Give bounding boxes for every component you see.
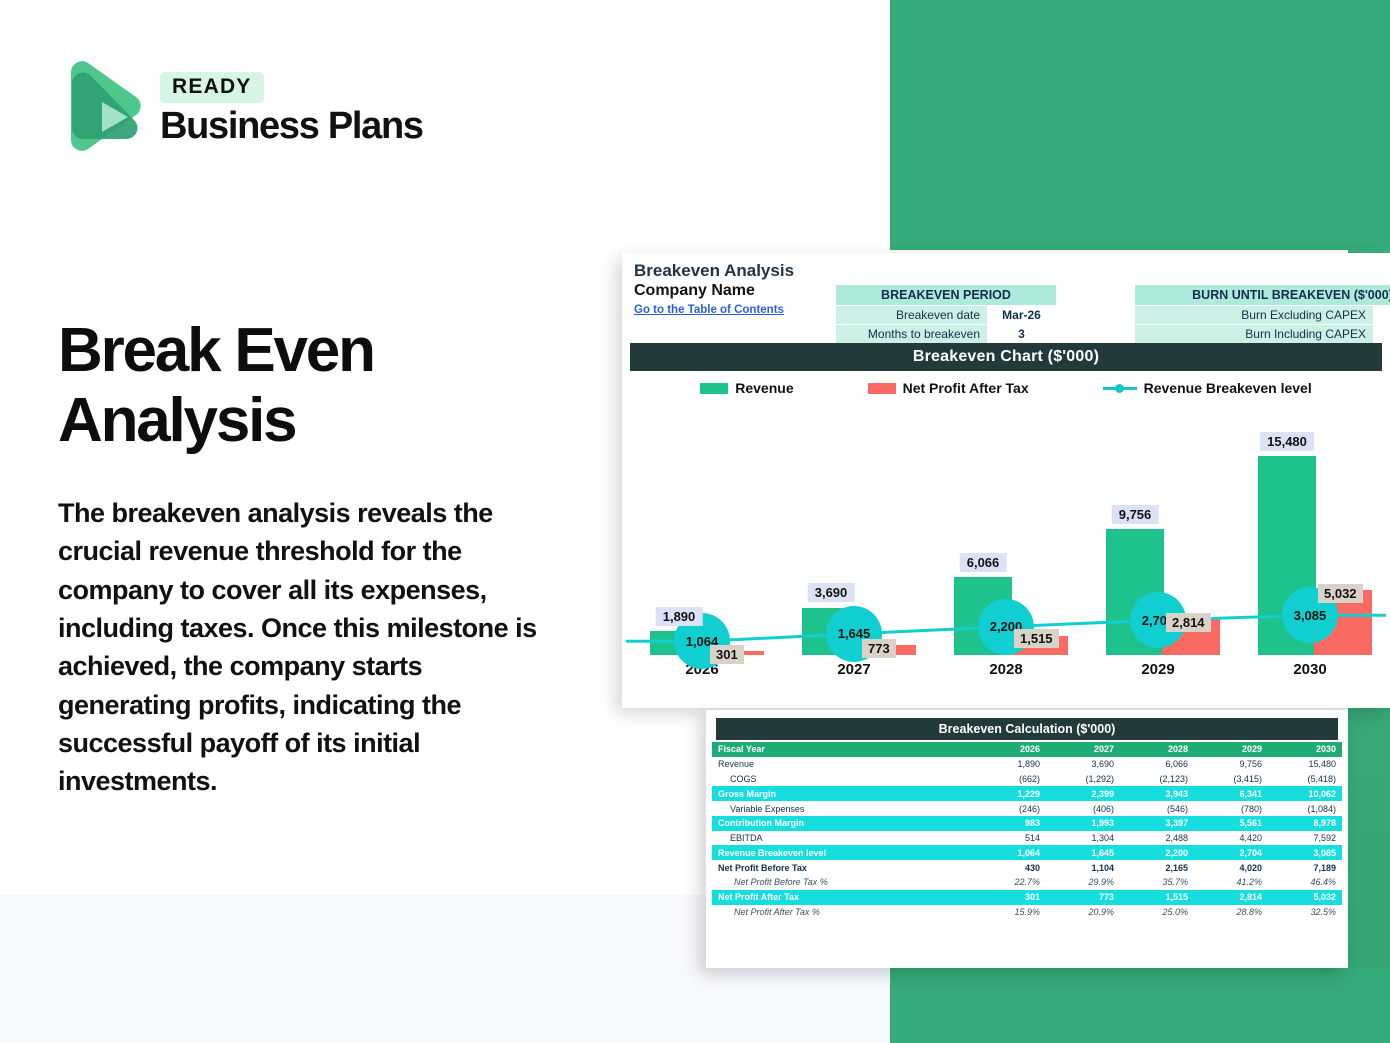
breakeven-date-value[interactable]: Mar-26 [986,306,1056,324]
months-to-breakeven-row: Months to breakeven 3 [836,324,1056,343]
table-column-header-2028: 2028 [1120,742,1194,757]
table-cell-2026: 430 [972,860,1046,875]
label-net-profit-after-tax-2030: 5,032 [1318,584,1363,603]
table-header-row: Fiscal Year20262027202820292030 [712,742,1342,757]
burn-excluding-capex-label: Burn Excluding CAPEX [1135,306,1372,324]
table-cell-2028: 3,943 [1120,786,1194,801]
table-row-label: COGS [712,772,972,787]
table-cell-2027: 1,304 [1046,831,1120,846]
page-description: The breakeven analysis reveals the cruci… [58,494,548,801]
table-cell-2028: 3,397 [1120,816,1194,831]
table-row: Net Profit Before Tax %22.7%29.9%35.7%41… [712,875,1342,890]
table-body: Revenue1,8903,6906,0669,75615,480COGS(66… [712,757,1342,920]
table-row-label: Revenue Breakeven level [712,845,972,860]
table-row-label: Contribution Margin [712,816,972,831]
table-row: EBITDA5141,3042,4884,4207,592 [712,831,1342,846]
table-cell-2026: 301 [972,890,1046,905]
legend-label-revenue: Revenue [735,380,793,396]
page-title: Break Even Analysis [58,316,578,456]
table-cell-2028: 25.0% [1120,905,1194,920]
burn-including-capex-label: Burn Including CAPEX [1135,325,1372,343]
x-axis-label-2029: 2029 [1082,661,1234,689]
table-row: Contribution Margin9831,9933,3975,5618,9… [712,816,1342,831]
calculation-title-banner: Breakeven Calculation ($'000) [716,718,1338,740]
table-row-label: Net Profit Before Tax % [712,875,972,890]
table-row-label: Net Profit After Tax % [712,905,972,920]
table-cell-2028: 6,066 [1120,757,1194,772]
table-cell-2028: 2,488 [1120,831,1194,846]
table-row-label: Net Profit Before Tax [712,860,972,875]
sheet-header: Breakeven Analysis Company Name Go to th… [622,253,1390,343]
table-cell-2030: 7,189 [1268,860,1342,875]
chart-legend: Revenue Net Profit After Tax Revenue Bre… [622,371,1390,405]
sheet-title: Breakeven Analysis [634,261,1390,281]
table-column-header-fiscal-year: Fiscal Year [712,742,972,757]
table-row: Variable Expenses(246)(406)(546)(780)(1,… [712,801,1342,816]
table-row: Net Profit Before Tax4301,1042,1654,0207… [712,860,1342,875]
legend-swatch-breakeven-line-icon [1103,382,1137,394]
burn-including-capex-row: Burn Including CAPEX (48.5) [1135,324,1390,343]
table-header: Fiscal Year20262027202820292030 [712,742,1342,757]
table-cell-2029: 6,341 [1194,786,1268,801]
table-cell-2027: 773 [1046,890,1120,905]
table-row: Net Profit After Tax3017731,5152,8145,03… [712,890,1342,905]
label-revenue-2030: 15,480 [1260,432,1314,451]
breakeven-date-row: Breakeven date Mar-26 [836,305,1056,324]
table-cell-2027: 20.9% [1046,905,1120,920]
legend-swatch-revenue-icon [700,383,728,394]
table-cell-2028: 2,200 [1120,845,1194,860]
label-net-profit-after-tax-2029: 2,814 [1166,613,1211,632]
table-cell-2030: (5,418) [1268,772,1342,787]
table-column-header-2026: 2026 [972,742,1046,757]
legend-label-revenue-breakeven-level: Revenue Breakeven level [1144,380,1312,396]
table-cell-2029: 5,561 [1194,816,1268,831]
table-cell-2030: 46.4% [1268,875,1342,890]
table-cell-2029: 28.8% [1194,905,1268,920]
breakeven-chart-card: Breakeven Analysis Company Name Go to th… [622,253,1390,708]
table-cell-2026: 15.9% [972,905,1046,920]
x-axis-label-2027: 2027 [778,661,930,689]
table-row-label: Gross Margin [712,786,972,801]
label-revenue-2028: 6,066 [960,553,1007,572]
play-triangle-logo-icon [58,58,144,156]
brand-logo[interactable]: READY Business Plans [58,58,423,156]
legend-item-revenue-breakeven-level[interactable]: Revenue Breakeven level [1103,380,1312,396]
table-row-label: Net Profit After Tax [712,890,972,905]
table-column-header-2029: 2029 [1194,742,1268,757]
table-cell-2030: 3,085 [1268,845,1342,860]
table-cell-2030: 7,592 [1268,831,1342,846]
x-axis-label-2028: 2028 [930,661,1082,689]
label-net-profit-after-tax-2027: 773 [862,639,896,658]
table-row-label: EBITDA [712,831,972,846]
label-net-profit-after-tax-2028: 1,515 [1014,629,1059,648]
legend-label-net-profit-after-tax: Net Profit After Tax [903,380,1029,396]
table-cell-2026: 1,229 [972,786,1046,801]
legend-item-net-profit-after-tax[interactable]: Net Profit After Tax [868,380,1029,396]
table-cell-2028: (546) [1120,801,1194,816]
table-cell-2027: 1,993 [1046,816,1120,831]
burn-until-breakeven-box: BURN UNTIL BREAKEVEN ($'000) Burn Exclud… [1135,285,1390,343]
table-cell-2029: (780) [1194,801,1268,816]
chart-title-banner: Breakeven Chart ($'000) [630,343,1382,371]
background-green-block-bottom [890,968,1390,1043]
burn-including-capex-value[interactable]: (48.5) [1372,325,1390,343]
table-cell-2027: 1,104 [1046,860,1120,875]
table-row-label: Variable Expenses [712,801,972,816]
chart-x-axis-labels: 20262027202820292030 [626,661,1386,689]
table-cell-2030: 10,062 [1268,786,1342,801]
hero-column: READY Business Plans Break Even Analysis… [0,0,600,1043]
breakeven-calculation-table: Fiscal Year20262027202820292030 Revenue1… [712,742,1342,919]
table-of-contents-link[interactable]: Go to the Table of Contents [634,304,784,316]
burn-excluding-capex-value[interactable]: (11.0) [1372,306,1390,324]
table-cell-2029: 2,814 [1194,890,1268,905]
table-cell-2026: 983 [972,816,1046,831]
breakeven-period-header: BREAKEVEN PERIOD [836,285,1056,305]
table-cell-2028: 1,515 [1120,890,1194,905]
label-revenue-2026: 1,890 [656,607,703,626]
x-axis-label-2030: 2030 [1234,661,1386,689]
brand-name: Business Plans [160,107,423,145]
table-cell-2027: 2,399 [1046,786,1120,801]
table-row: Revenue Breakeven level1,0641,6452,2002,… [712,845,1342,860]
legend-swatch-npat-icon [868,383,896,394]
table-row: Net Profit After Tax %15.9%20.9%25.0%28.… [712,905,1342,920]
chart-series-layer: 1,8901,0643013,6901,6457736,0662,2001,51… [626,409,1386,689]
months-to-breakeven-value[interactable]: 3 [986,325,1056,343]
table-row: Revenue1,8903,6906,0669,75615,480 [712,757,1342,772]
table-cell-2028: (2,123) [1120,772,1194,787]
table-cell-2029: 9,756 [1194,757,1268,772]
table-cell-2027: (1,292) [1046,772,1120,787]
table-cell-2026: 1,890 [972,757,1046,772]
table-cell-2028: 2,165 [1120,860,1194,875]
table-cell-2027: 3,690 [1046,757,1120,772]
table-cell-2030: (1,084) [1268,801,1342,816]
table-cell-2027: (406) [1046,801,1120,816]
table-cell-2027: 29.9% [1046,875,1120,890]
table-row: Gross Margin1,2292,3993,9436,34110,062 [712,786,1342,801]
label-revenue-2027: 3,690 [808,583,855,602]
table-row-label: Revenue [712,757,972,772]
table-cell-2026: (662) [972,772,1046,787]
table-cell-2026: 22.7% [972,875,1046,890]
table-cell-2030: 32.5% [1268,905,1342,920]
table-cell-2028: 35.7% [1120,875,1194,890]
burn-excluding-capex-row: Burn Excluding CAPEX (11.0) [1135,305,1390,324]
table-cell-2030: 5,032 [1268,890,1342,905]
table-cell-2027: 1,645 [1046,845,1120,860]
brand-logo-text: READY Business Plans [160,70,423,145]
table-cell-2026: (246) [972,801,1046,816]
burn-until-breakeven-header: BURN UNTIL BREAKEVEN ($'000) [1135,285,1390,305]
table-cell-2030: 8,978 [1268,816,1342,831]
table-cell-2029: 2,704 [1194,845,1268,860]
table-column-header-2027: 2027 [1046,742,1120,757]
breakeven-calculation-card: Breakeven Calculation ($'000) Fiscal Yea… [706,710,1348,968]
table-cell-2026: 1,064 [972,845,1046,860]
table-column-header-2030: 2030 [1268,742,1342,757]
table-row: COGS(662)(1,292)(2,123)(3,415)(5,418) [712,772,1342,787]
legend-item-revenue[interactable]: Revenue [700,380,793,396]
table-cell-2029: 41.2% [1194,875,1268,890]
label-net-profit-after-tax-2026: 301 [710,645,744,664]
table-cell-2030: 15,480 [1268,757,1342,772]
table-cell-2029: (3,415) [1194,772,1268,787]
background-green-block-top [890,0,1390,250]
chart-plot-area: 1,8901,0643013,6901,6457736,0662,2001,51… [626,409,1386,689]
label-revenue-2029: 9,756 [1112,505,1159,524]
table-cell-2029: 4,020 [1194,860,1268,875]
table-cell-2026: 514 [972,831,1046,846]
brand-badge-ready: READY [160,72,264,103]
table-cell-2029: 4,420 [1194,831,1268,846]
breakeven-period-box: BREAKEVEN PERIOD Breakeven date Mar-26 M… [836,285,1056,343]
breakeven-date-label: Breakeven date [836,306,986,324]
months-to-breakeven-label: Months to breakeven [836,325,986,343]
